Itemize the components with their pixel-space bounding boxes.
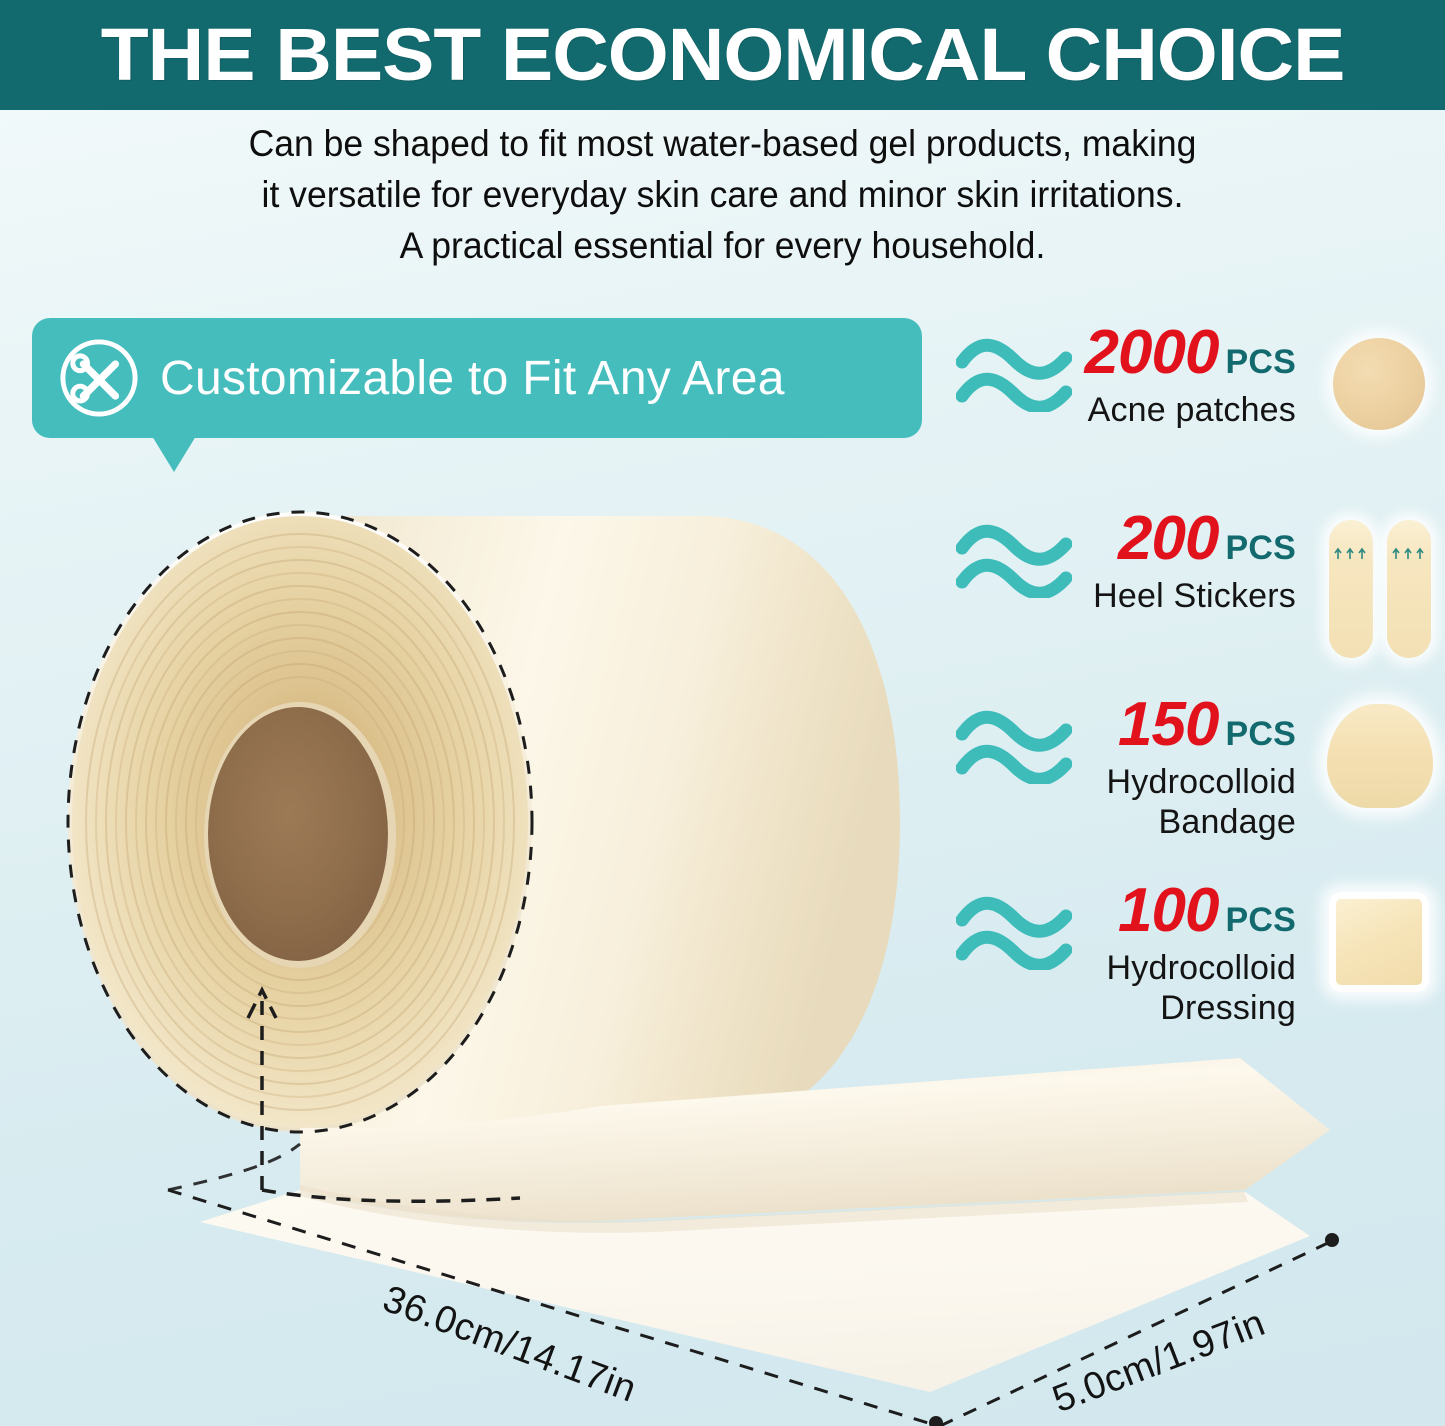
feature-list: 2000PCS Acne patches 200PCS Heel Sticker… <box>952 318 1445 1062</box>
dressing-square <box>1329 892 1429 992</box>
page-title: THE BEST ECONOMICAL CHOICE <box>101 18 1345 92</box>
heel-sticker-strips-thumbnail <box>1319 512 1443 652</box>
acne-patch-disc <box>1333 338 1425 430</box>
feature-text-acne-patches: 2000PCS Acne patches <box>1070 318 1296 430</box>
feature-count-line: 2000PCS <box>1070 318 1296 384</box>
approximately-equal-wave-icon <box>956 524 1072 598</box>
subtitle-block: Can be shaped to fit most water-based ge… <box>0 118 1445 271</box>
feature-text-heel-stickers: 200PCS Heel Stickers <box>1070 504 1296 616</box>
core-hole <box>208 707 388 961</box>
heel-sticker-strip <box>1329 520 1373 658</box>
approximately-equal-wave-icon <box>956 896 1072 970</box>
feature-count-line: 150PCS <box>1070 690 1296 756</box>
feature-label: Acne patches <box>1070 384 1296 430</box>
header-banner: THE BEST ECONOMICAL CHOICE <box>0 0 1445 110</box>
feature-label-line-1: Hydrocolloid <box>1070 756 1296 802</box>
feature-label-line-2: Dressing <box>1070 988 1296 1028</box>
feature-label-line-1: Hydrocolloid <box>1070 942 1296 988</box>
subtitle-line-1: Can be shaped to fit most water-based ge… <box>29 118 1416 169</box>
feature-text-hydrocolloid-bandage: 150PCS Hydrocolloid Bandage <box>1070 690 1296 842</box>
subtitle-line-2: it versatile for everyday skin care and … <box>29 169 1416 220</box>
feature-text-hydrocolloid-dressing: 100PCS Hydrocolloid Dressing <box>1070 876 1296 1028</box>
product-infographic: THE BEST ECONOMICAL CHOICE Can be shaped… <box>0 0 1445 1426</box>
approximately-equal-wave-icon <box>956 710 1072 784</box>
feature-count: 100 <box>1118 876 1218 945</box>
callout-label: Customizable to Fit Any Area <box>160 351 785 406</box>
heel-sticker-strip <box>1387 520 1431 658</box>
feature-row-heel-stickers: 200PCS Heel Stickers <box>952 504 1445 690</box>
round-acne-patch-thumbnail <box>1319 326 1443 466</box>
bandage-shape <box>1327 704 1433 808</box>
feature-count-line: 100PCS <box>1070 876 1296 942</box>
feature-count: 200 <box>1118 504 1218 573</box>
feature-unit: PCS <box>1225 901 1296 939</box>
callout-tail <box>152 436 196 472</box>
feature-count: 2000 <box>1085 318 1219 387</box>
scissors-icon <box>58 337 140 419</box>
feature-label: Heel Stickers <box>1070 570 1296 616</box>
sticker-arrow-marks-icon <box>1329 546 1373 560</box>
sticker-arrow-marks-icon <box>1387 546 1431 560</box>
heel-sticker-pair <box>1325 514 1437 664</box>
hydrocolloid-bandage-thumbnail <box>1319 698 1443 838</box>
feature-row-hydrocolloid-bandage: 150PCS Hydrocolloid Bandage <box>952 690 1445 876</box>
feature-count: 150 <box>1118 690 1218 759</box>
approximately-equal-wave-icon <box>956 338 1072 412</box>
subtitle-line-3: A practical essential for every househol… <box>29 220 1416 271</box>
feature-unit: PCS <box>1225 715 1296 753</box>
strip-top-guide-dashed <box>168 1144 300 1190</box>
feature-unit: PCS <box>1225 343 1296 381</box>
feature-row-acne-patches: 2000PCS Acne patches <box>952 318 1445 504</box>
feature-unit: PCS <box>1225 529 1296 567</box>
feature-row-hydrocolloid-dressing: 100PCS Hydrocolloid Dressing <box>952 876 1445 1062</box>
feature-count-line: 200PCS <box>1070 504 1296 570</box>
customizable-callout: Customizable to Fit Any Area <box>32 318 922 438</box>
hydrocolloid-dressing-thumbnail <box>1319 884 1443 1024</box>
feature-label-line-2: Bandage <box>1070 802 1296 842</box>
depth-dimension-endpoint <box>1325 1233 1339 1247</box>
